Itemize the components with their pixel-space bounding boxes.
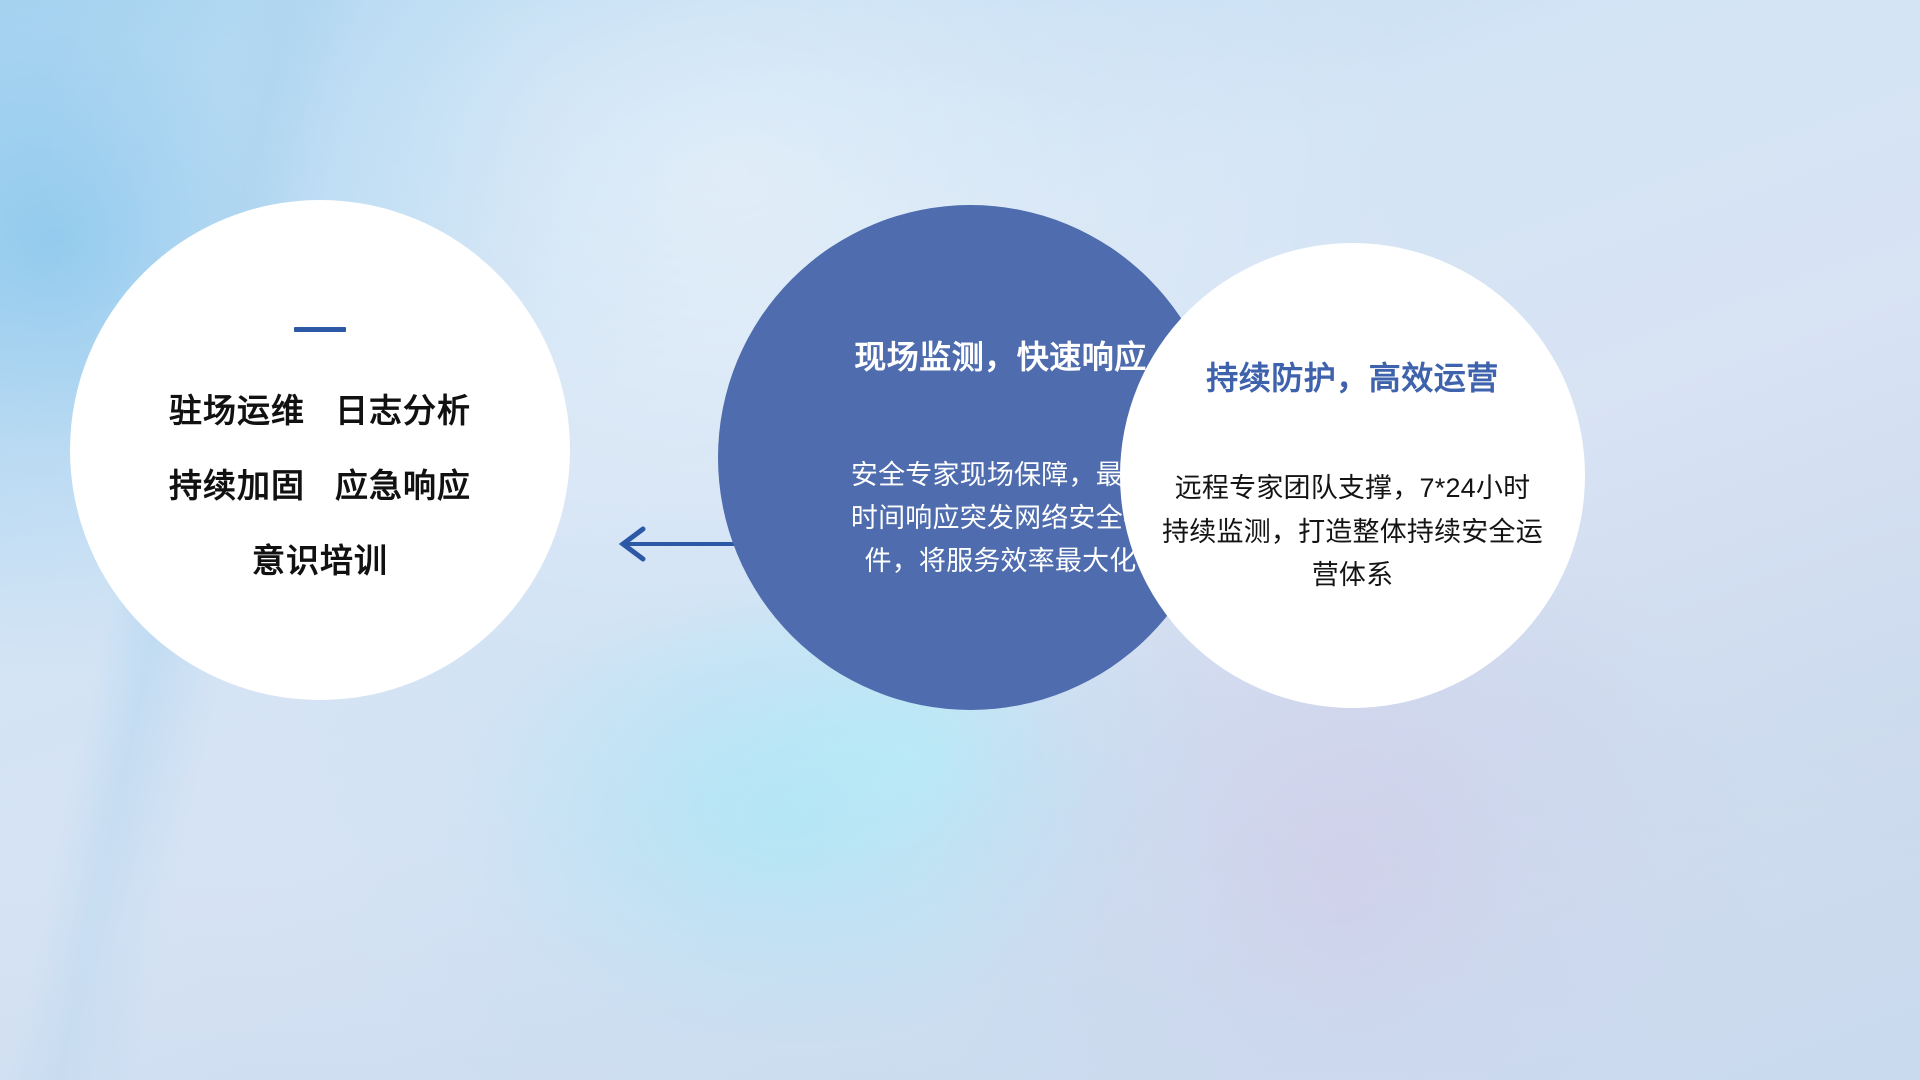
capability-circle-left[interactable]: 驻场运维 日志分析 持续加固 应急响应 意识培训	[70, 200, 570, 700]
service-circle-onsite-content: 现场监测，快速响应 安全专家现场保障，最短时间响应突发网络安全事件，将服务效率最…	[798, 332, 1143, 584]
capability-row-2: 持续加固 应急响应	[169, 459, 471, 507]
capability-list: 驻场运维 日志分析 持续加固 应急响应 意识培训	[110, 319, 530, 582]
capability-tag-awareness-training: 意识培训	[252, 534, 388, 582]
slide-canvas: 驻场运维 日志分析 持续加固 应急响应 意识培训 现场监测，快速响应 安全专家现…	[0, 0, 1920, 1080]
service-circle-remote[interactable]: 持续防护，高效运营 远程专家团队支撑，7*24小时持续监测，打造整体持续安全运营…	[1120, 243, 1585, 708]
capability-tag-onsite-ops: 驻场运维	[169, 384, 305, 432]
service-title-onsite: 现场监测，快速响应	[854, 332, 1147, 378]
capability-tag-continuous-hardening: 持续加固	[169, 459, 305, 507]
capability-tag-log-analysis: 日志分析	[335, 384, 471, 432]
capability-row-1: 驻场运维 日志分析	[169, 384, 471, 432]
service-title-remote: 持续防护，高效运营	[1206, 353, 1499, 399]
service-circle-remote-content: 持续防护，高效运营 远程专家团队支撑，7*24小时持续监测，打造整体持续安全运营…	[1160, 353, 1545, 598]
horizontal-dash-icon	[294, 327, 346, 332]
capability-tag-emergency-response: 应急响应	[335, 459, 471, 507]
service-body-remote: 远程专家团队支撑，7*24小时持续监测，打造整体持续安全运营体系	[1162, 467, 1544, 598]
service-body-onsite: 安全专家现场保障，最短时间响应突发网络安全事件，将服务效率最大化	[841, 454, 1161, 584]
